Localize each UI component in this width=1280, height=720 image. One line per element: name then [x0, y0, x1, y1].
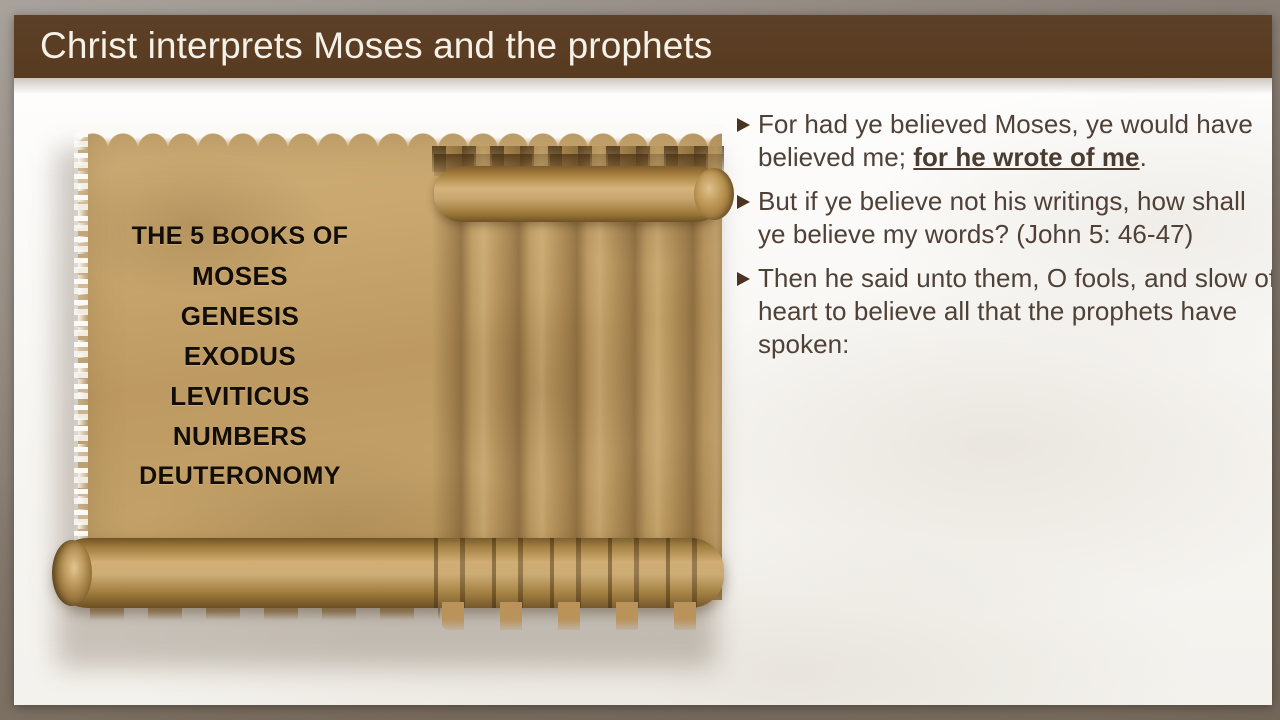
title-bar-shadow — [14, 78, 1272, 94]
bullet-text-0: For had ye believed Moses, ye would have… — [758, 108, 1272, 174]
scroll-line-2: GENESIS — [80, 296, 400, 336]
scroll-top-roll — [434, 166, 724, 222]
bullet-text-0-post: . — [1140, 142, 1147, 172]
scroll-scalloped-top-edge — [78, 124, 722, 148]
scroll-line-0: THE 5 BOOKS OF — [80, 216, 400, 256]
triangle-right-icon — [736, 108, 758, 133]
scroll-book-list: THE 5 BOOKS OF MOSES GENESIS EXODUS LEVI… — [80, 216, 400, 496]
scroll-line-5: NUMBERS — [80, 416, 400, 456]
slide-canvas: Christ interprets Moses and the prophets… — [14, 15, 1272, 705]
list-item: But if ye believe not his writings, how … — [736, 185, 1272, 251]
parchment-scroll-image: THE 5 BOOKS OF MOSES GENESIS EXODUS LEVI… — [34, 118, 724, 678]
slide-title-bar: Christ interprets Moses and the prophets — [14, 15, 1272, 78]
bullet-text-2: Then he said unto them, O fools, and slo… — [758, 262, 1272, 361]
scroll-bottom-roll-ribs — [434, 538, 724, 608]
scroll-line-1: MOSES — [80, 256, 400, 296]
page-title: Christ interprets Moses and the prophets — [40, 25, 712, 67]
bullet-text-0-emphasis: for he wrote of me — [913, 142, 1139, 172]
triangle-right-icon — [736, 185, 758, 210]
scroll-line-4: LEVITICUS — [80, 376, 400, 416]
slide-outer-frame: Christ interprets Moses and the prophets… — [0, 0, 1280, 720]
bullet-list: For had ye believed Moses, ye would have… — [736, 108, 1272, 372]
scroll-line-6: DEUTERONOMY — [80, 456, 400, 496]
bullet-text-1: But if ye believe not his writings, how … — [758, 185, 1272, 251]
scroll-top-roll-end-cap — [694, 168, 734, 220]
scroll-line-3: EXODUS — [80, 336, 400, 376]
list-item: For had ye believed Moses, ye would have… — [736, 108, 1272, 174]
list-item: Then he said unto them, O fools, and slo… — [736, 262, 1272, 361]
triangle-right-icon — [736, 262, 758, 287]
scroll-bottom-roll-end-cap — [52, 540, 92, 606]
scroll-bottom-tabs-right — [442, 602, 718, 630]
